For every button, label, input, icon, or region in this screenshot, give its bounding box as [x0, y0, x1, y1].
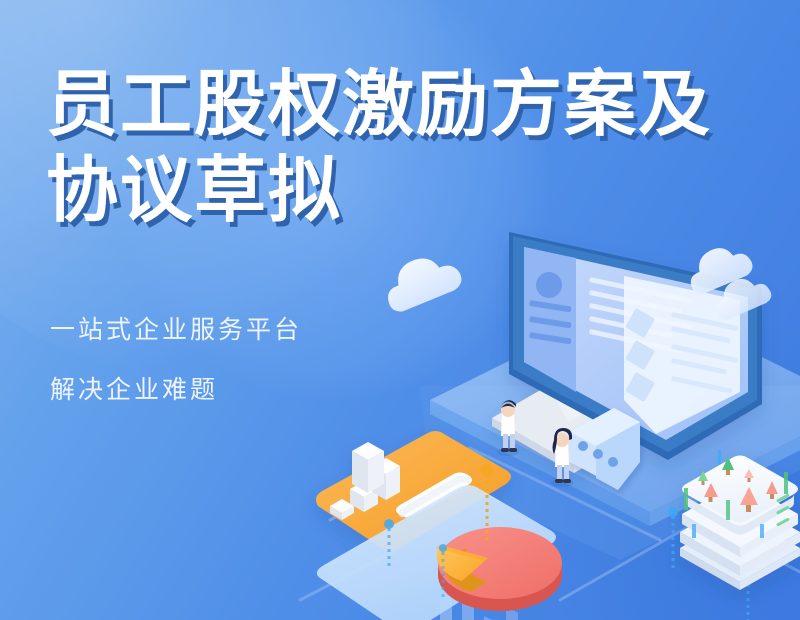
subtitle-line-2: 解决企业难题 [50, 370, 218, 406]
cloud-left [379, 249, 465, 315]
subtitle-line-1: 一站式企业服务平台 [50, 310, 302, 346]
page-title: 员工股权激励方案及 协议草拟 [46, 62, 766, 234]
promo-banner: 员工股权激励方案及 协议草拟 一站式企业服务平台 解决企业难题 [0, 0, 800, 620]
